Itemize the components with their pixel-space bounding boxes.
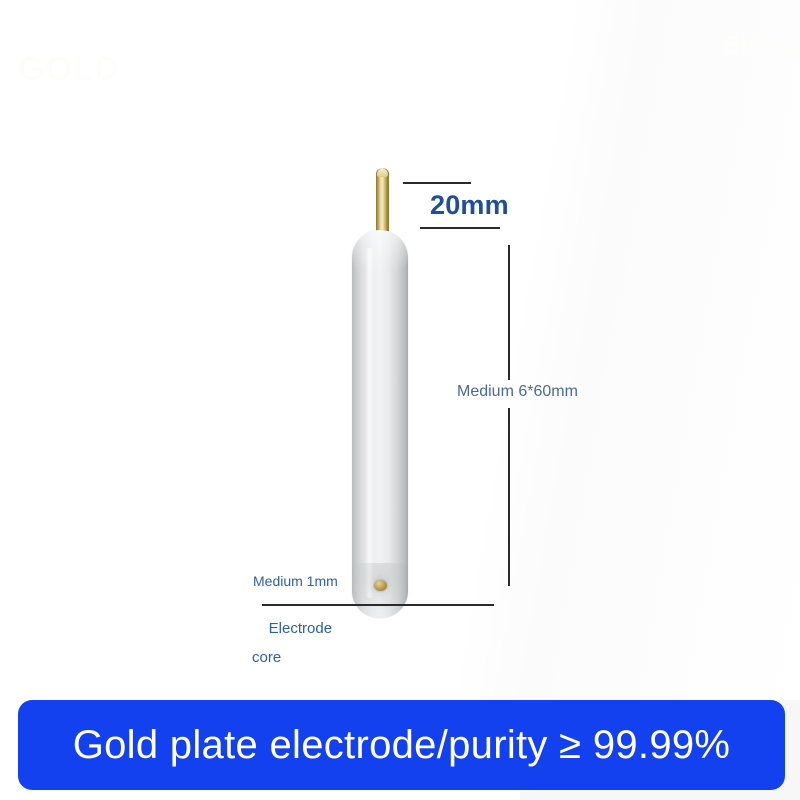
ceramic-body-rod [352,230,408,618]
leader-line-pin-top [403,182,471,184]
annotation-core-part-line1: Electrode [269,620,332,637]
annotation-pin-length: 20mm [430,190,509,221]
product-image-canvas: GOLD ELEC 20mm Medium 6*60mm Medium 1mm … [0,0,800,800]
leader-line-pin-bottom [420,227,500,229]
leader-elbow-pin-top [0,0,20,24]
ceramic-body-top-cap [352,230,408,270]
annotation-core-diameter: Medium 1mm [253,573,338,589]
dimension-bracket-lower [508,408,510,586]
leader-hook-core-left [0,68,16,87]
background-diagonal-streak-2 [422,0,800,702]
bottom-banner-text: Gold plate electrode/purity ≥ 99.99% [73,723,731,768]
ceramic-body-gloss [365,248,374,598]
electrode-product [352,168,418,618]
annotation-core-part: Electrode core [252,608,332,693]
annotation-body-size: Medium 6*60mm [457,383,578,401]
bottom-banner: Gold plate electrode/purity ≥ 99.99% [18,700,785,790]
watermark-left: GOLD [18,50,120,89]
watermark-right: ELEC [722,30,795,61]
dimension-bracket-bottom-elbow [0,46,20,68]
electrode-core-dot [374,580,387,591]
gold-pin-highlight [377,169,388,177]
leader-line-core-bottom [262,604,494,606]
dimension-bracket-upper [508,245,510,380]
annotation-core-part-line2: core [252,651,332,665]
leader-elbow-pin-bottom [0,24,20,46]
